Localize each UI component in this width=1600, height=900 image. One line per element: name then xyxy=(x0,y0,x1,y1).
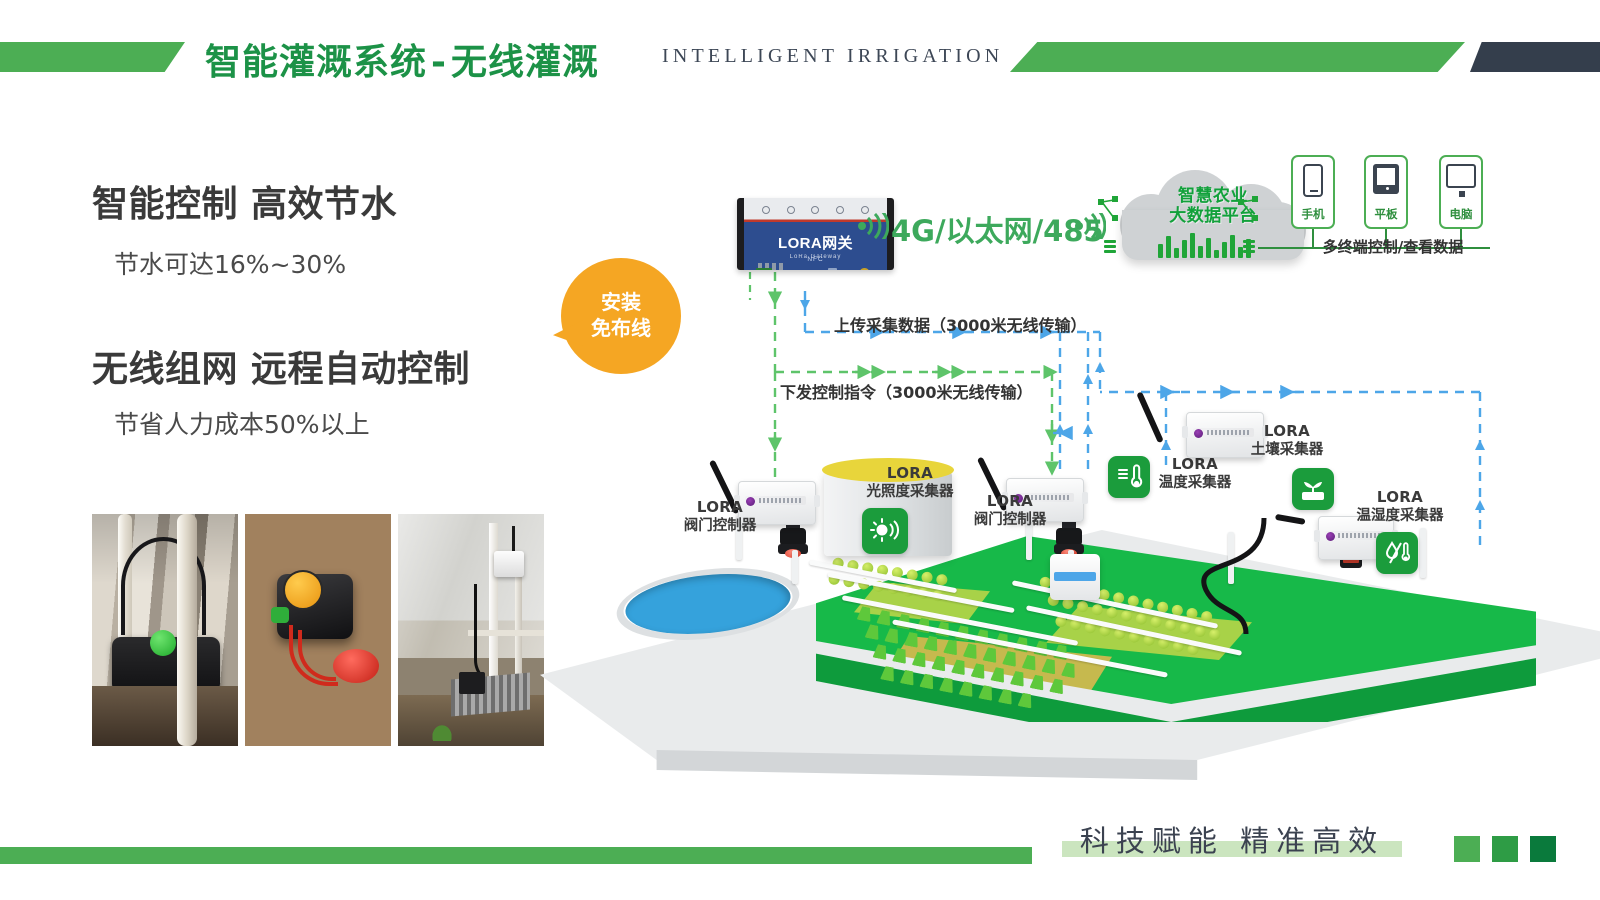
flow-label-uplink: 上传采集数据（3000米无线传输） xyxy=(834,312,1087,336)
humidity-temperature-icon xyxy=(1376,532,1418,574)
gateway-nfc-label: NFC xyxy=(744,256,887,263)
flow-label-downlink: 下发控制指令（3000米无线传输） xyxy=(780,379,1033,403)
gateway-connector-blue xyxy=(828,268,837,270)
page-subtitle-en: INTELLIGENT IRRIGATION xyxy=(662,45,1003,68)
device-label-temperature-collector: LORA 温度采集器 xyxy=(1140,455,1250,492)
cloud-line-2: 大数据平台 xyxy=(1118,206,1308,226)
feature-sub-1: 节水可达16%~30% xyxy=(114,245,346,281)
gateway-brand-cn: LORA网关 xyxy=(778,235,853,252)
terminal-caption: 多终端控制/查看数据 xyxy=(1283,236,1503,257)
device-label-soil-collector: LORA 土壤采集器 xyxy=(1232,422,1342,459)
header-bar-dark xyxy=(1470,42,1600,72)
sun-light-icon xyxy=(862,508,908,554)
antenna-icon-soil xyxy=(1136,391,1163,443)
photo-valve-controller-in-soil xyxy=(245,514,391,746)
server-stack-left-icon xyxy=(1104,240,1116,255)
device-label-illuminance-collector: LORA 光照度采集器 xyxy=(840,464,980,501)
header-bar-left xyxy=(0,42,185,72)
photo-valve-on-pipes xyxy=(92,514,238,746)
terminal-card-tablet[interactable]: 平板 xyxy=(1364,155,1408,229)
gateway-connector-green xyxy=(756,268,772,270)
network-node-left-icon xyxy=(1098,196,1120,224)
valve-stand-1 xyxy=(792,550,798,584)
sensor-stand-4 xyxy=(1420,528,1426,578)
network-node-right-icon xyxy=(1238,196,1260,224)
cloud-platform-text: 智慧农业 大数据平台 xyxy=(1118,186,1308,226)
feature-sub-2: 节省人力成本50%以上 xyxy=(114,405,370,441)
footer-square-1 xyxy=(1454,836,1480,862)
footer-square-3 xyxy=(1530,836,1556,862)
photo-strip xyxy=(92,514,544,746)
server-stack-right-icon xyxy=(1243,240,1255,255)
field-filter-unit xyxy=(1050,554,1100,600)
device-label-valve-controller-2: LORA 阀门控制器 xyxy=(960,492,1060,529)
no-wiring-badge: 安装 免布线 xyxy=(561,258,681,374)
terminal-card-computer[interactable]: 电脑 xyxy=(1439,155,1483,229)
header-bar-middle xyxy=(1010,42,1465,72)
feature-heading-2: 无线组网 远程自动控制 xyxy=(92,340,470,392)
badge-line-1: 安装 xyxy=(601,290,641,316)
footer-green-bar xyxy=(0,847,1032,864)
terminal-label-computer: 电脑 xyxy=(1441,206,1481,222)
page-title-main: 智能灌溉系统 xyxy=(205,42,427,83)
cloud-data-bars-icon xyxy=(1158,232,1251,258)
cloud-platform: 智慧农业 大数据平台 xyxy=(1118,168,1308,264)
page-title: 智能灌溉系统-无线灌溉 xyxy=(205,33,599,85)
network-protocol-label: 4G/以太网/485 xyxy=(891,208,1104,250)
page-title-dash: - xyxy=(427,42,451,83)
footer-square-2 xyxy=(1492,836,1518,862)
gateway-connector-antenna xyxy=(860,268,869,270)
device-label-valve-controller-1: LORA 阀门控制器 xyxy=(670,498,770,535)
badge-line-2: 免布线 xyxy=(591,316,651,342)
infographic-page: 智能灌溉系统-无线灌溉 INTELLIGENT IRRIGATION 智能控制 … xyxy=(0,0,1600,900)
terminal-label-tablet: 平板 xyxy=(1366,206,1406,222)
footer-slogan: 科技赋能 精准高效 xyxy=(1062,818,1402,860)
soil-plant-icon xyxy=(1292,468,1334,510)
tablet-icon xyxy=(1373,164,1399,194)
cloud-line-1: 智慧农业 xyxy=(1118,186,1308,206)
device-label-temp-humidity-collector: LORA 温湿度采集器 xyxy=(1340,488,1460,525)
signal-wave-left-icon xyxy=(857,213,889,243)
page-title-accent: 无线灌溉 xyxy=(451,42,599,83)
photo-lora-device-greenhouse xyxy=(398,514,544,746)
feature-heading-1: 智能控制 高效节水 xyxy=(92,175,397,227)
monitor-icon xyxy=(1446,164,1476,188)
soil-probe-cable xyxy=(1180,516,1300,636)
